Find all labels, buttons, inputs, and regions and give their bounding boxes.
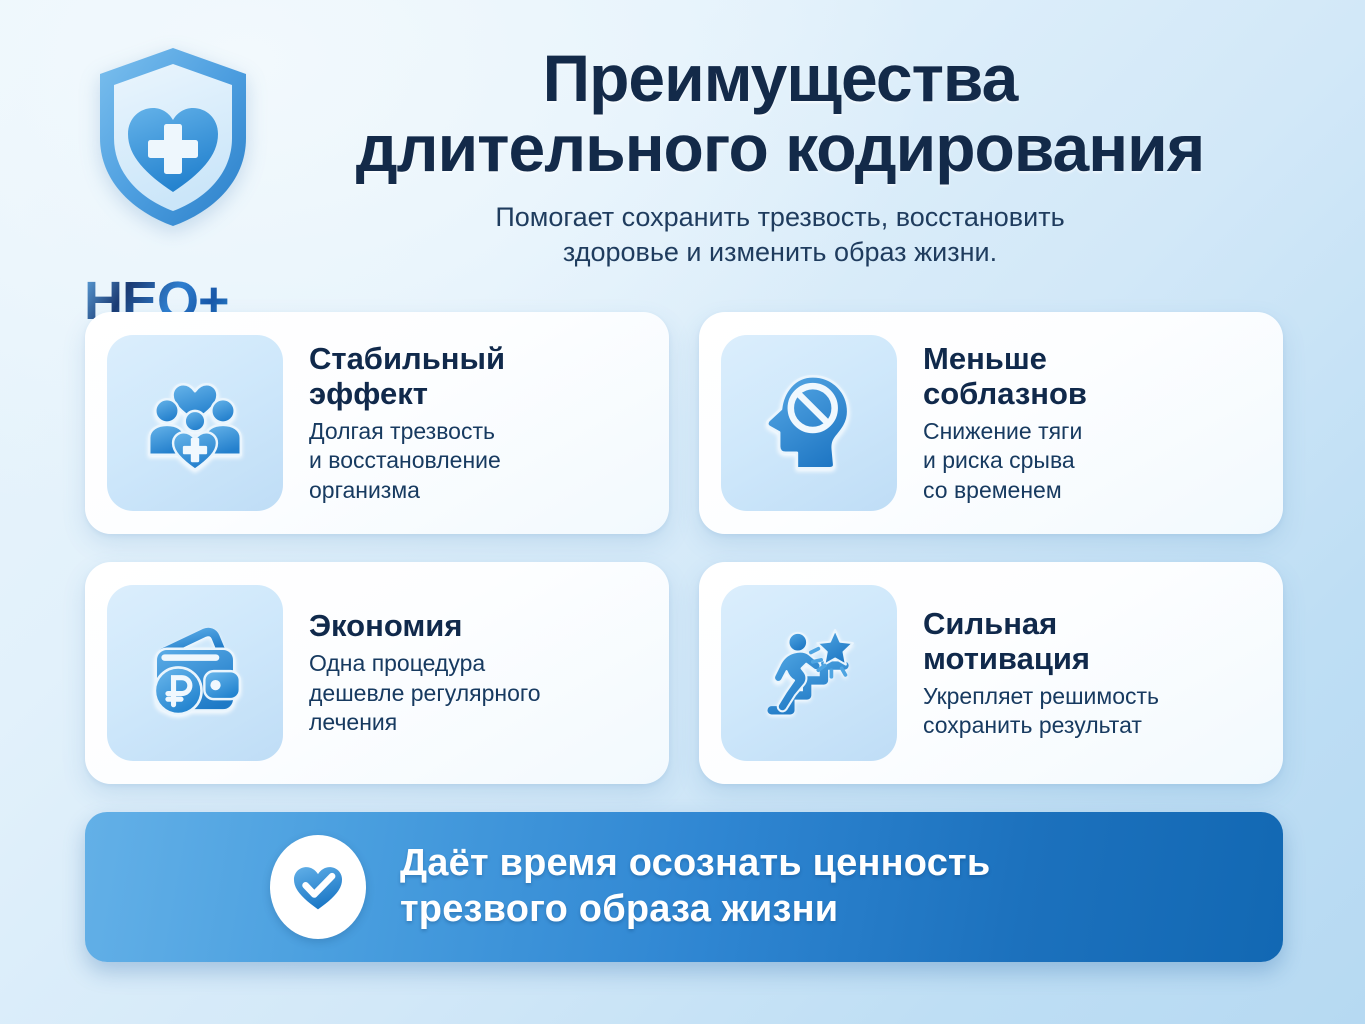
head-no-entry-icon [721,335,897,511]
stairs-star-person-icon [721,585,897,761]
page-title: Преимущества длительного кодирования [290,44,1270,184]
page-subtitle-line1: Помогает сохранить трезвость, восстанови… [290,200,1270,235]
benefit-card-title: Стабильный эффект [309,341,505,411]
title-block: Преимущества длительного кодирования Пом… [290,44,1270,270]
heart-check-circle-icon [270,835,366,939]
benefit-card-title: Сильная мотивация [923,606,1159,676]
infographic-poster: НЕО+ Преимущества длительного кодировани… [0,0,1365,1024]
benefit-card-stable-effect[interactable]: Стабильный эффект Долгая трезвость и вос… [85,312,669,534]
benefit-card-description: Одна процедура дешевле регулярного лечен… [309,649,541,737]
benefit-card-description: Долгая трезвость и восстановление органи… [309,417,505,505]
page-title-line1: Преимущества [543,41,1018,115]
benefit-card-motivation[interactable]: Сильная мотивация Укрепляет решимость со… [699,562,1283,784]
page-title-line2: длительного кодирования [290,114,1270,184]
banner-text: Даёт время осознать ценность трезвого об… [400,841,990,932]
benefit-card-text: Меньше соблазнов Снижение тяги и риска с… [923,341,1087,505]
benefit-card-title: Экономия [309,608,541,643]
benefit-card-text: Стабильный эффект Долгая трезвость и вос… [309,341,505,505]
benefit-card-title: Меньше соблазнов [923,341,1087,411]
family-heart-plus-icon [107,335,283,511]
bottom-banner: Даёт время осознать ценность трезвого об… [85,812,1283,962]
benefit-card-savings[interactable]: Экономия Одна процедура дешевле регулярн… [85,562,669,784]
benefit-card-grid: Стабильный эффект Долгая трезвость и вос… [85,312,1283,784]
benefit-card-text: Экономия Одна процедура дешевле регулярн… [309,608,541,737]
banner-line2: трезвого образа жизни [400,887,990,933]
benefit-card-less-temptation[interactable]: Меньше соблазнов Снижение тяги и риска с… [699,312,1283,534]
wallet-ruble-icon [107,585,283,761]
brand-block: НЕО+ [80,42,280,292]
benefit-card-text: Сильная мотивация Укрепляет решимость со… [923,606,1159,741]
benefit-card-description: Снижение тяги и риска срыва со временем [923,417,1087,505]
benefit-card-description: Укрепляет решимость сохранить результат [923,682,1159,741]
shield-heart-plus-icon [88,42,258,232]
page-subtitle-line2: здоровье и изменить образ жизни. [290,235,1270,270]
banner-line1: Даёт время осознать ценность [400,841,990,887]
page-subtitle: Помогает сохранить трезвость, восстанови… [290,200,1270,270]
header: НЕО+ Преимущества длительного кодировани… [0,0,1365,300]
